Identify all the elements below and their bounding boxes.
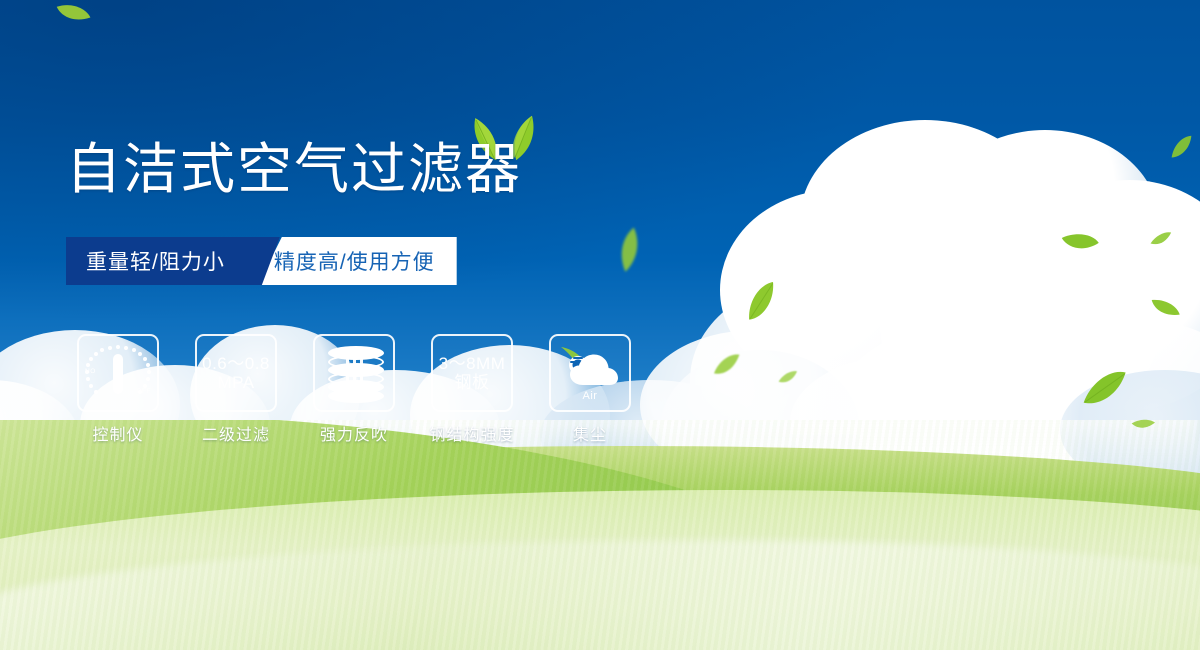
feature-item-steel[interactable]: 3～8MM 钢板 钢结构强度 — [424, 334, 520, 445]
feature-icon-line2: MPA — [202, 373, 270, 392]
feature-label: 钢结构强度 — [429, 421, 514, 445]
gauge-label-off: OFF — [137, 388, 152, 395]
feature-label: 集尘 — [573, 421, 607, 445]
subtitle-right: 精度高/使用方便 — [258, 237, 457, 285]
gauge-label-on: NO — [85, 368, 96, 375]
feature-icon-box: NO OFF — [77, 334, 159, 412]
feature-label: 二级过滤 — [202, 421, 270, 445]
coil-filter-icon — [328, 346, 380, 400]
steel-plate-text-icon: 3～8MM 钢板 — [439, 354, 506, 392]
feature-icon-box: Air — [549, 334, 631, 412]
feature-icon-box: 3～8MM 钢板 — [431, 334, 513, 412]
air-cloud-icon: Air — [559, 345, 621, 401]
feature-icon-box: 0.6～0.8 MPA — [195, 334, 277, 412]
feature-item-controller[interactable]: NO OFF 控制仪 — [70, 334, 166, 445]
subtitle-left: 重量轻/阻力小 — [66, 237, 251, 285]
feature-label: 控制仪 — [92, 421, 143, 445]
feature-icon-line2: 钢板 — [439, 373, 506, 392]
feature-item-dust[interactable]: Air 集尘 — [542, 334, 638, 445]
feature-label: 强力反吹 — [320, 421, 388, 445]
gauge-needle — [113, 354, 123, 394]
feature-list: NO OFF 控制仪 0.6～0.8 MPA 二级过滤 — [70, 334, 638, 445]
air-icon-label: Air — [559, 390, 621, 402]
subtitle-bar: 重量轻/阻力小 精度高/使用方便 — [66, 237, 457, 285]
gauge-icon: NO OFF — [86, 343, 150, 403]
feature-item-blowback[interactable]: 强力反吹 — [306, 334, 402, 445]
feature-item-filter[interactable]: 0.6～0.8 MPA 二级过滤 — [188, 334, 284, 445]
product-banner: 自洁式空气过滤器 重量轻/阻力小 精度高/使用方便 — [0, 0, 1200, 650]
page-title: 自洁式空气过滤器 — [66, 142, 522, 197]
feature-icon-box — [313, 334, 395, 412]
feature-icon-line1: 0.6～0.8 — [202, 354, 270, 373]
banner-content: 自洁式空气过滤器 重量轻/阻力小 精度高/使用方便 — [0, 0, 1200, 650]
pressure-text-icon: 0.6～0.8 MPA — [202, 354, 270, 392]
feature-icon-line1: 3～8MM — [439, 354, 506, 373]
